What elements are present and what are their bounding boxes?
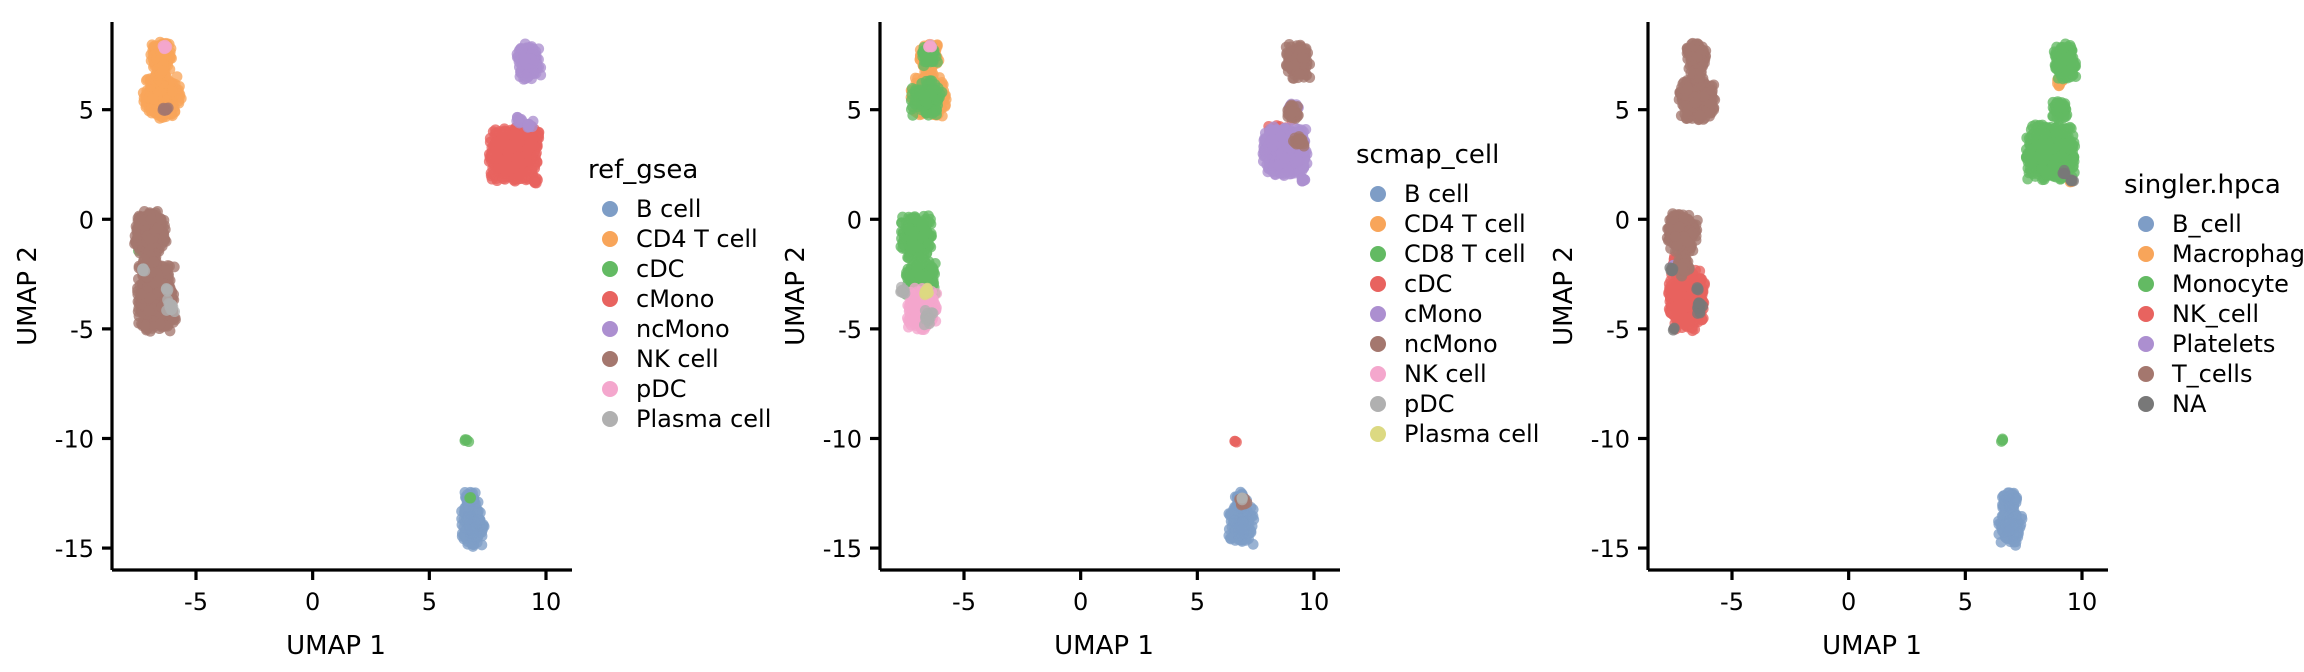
legend-item[interactable]: cDC	[588, 254, 771, 284]
legend-item[interactable]: ncMono	[1356, 329, 1539, 359]
y-tick-label: -15	[55, 535, 94, 563]
legend-item-label: Plasma cell	[636, 405, 771, 433]
legend-swatch-icon	[602, 201, 618, 217]
x-tick-label: 10	[1299, 588, 1330, 616]
legend-item[interactable]: pDC	[1356, 389, 1539, 419]
legend-swatch-icon	[2138, 216, 2154, 232]
legend-swatch-icon	[1370, 426, 1386, 442]
y-tick-label: -5	[838, 316, 862, 344]
legend-swatch-icon	[602, 321, 618, 337]
x-tick-label: 5	[422, 588, 437, 616]
legend-swatch-icon	[602, 381, 618, 397]
y-tick-label: -15	[823, 535, 862, 563]
y-tick-label: 5	[847, 97, 862, 125]
legend-item-label: ncMono	[636, 315, 730, 343]
x-axis-label: UMAP 1	[1822, 631, 1922, 661]
legend-swatch-icon	[2138, 396, 2154, 412]
legend-item-label: NA	[2172, 390, 2206, 418]
y-tick-label: -5	[1606, 316, 1630, 344]
y-axis-label: UMAP 2	[781, 246, 811, 346]
series-na	[1664, 165, 2079, 336]
legend-swatch-icon	[1370, 336, 1386, 352]
data-points	[1662, 38, 2081, 551]
x-tick-label: -5	[1720, 588, 1744, 616]
legend-item-label: B cell	[1404, 180, 1469, 208]
legend-item[interactable]: CD4 T cell	[588, 224, 771, 254]
legend-item[interactable]: Plasma cell	[588, 404, 771, 434]
legend-swatch-icon	[1370, 246, 1386, 262]
x-tick-label: 5	[1958, 588, 1973, 616]
series-cdc	[133, 240, 476, 503]
legend-item-label: ncMono	[1404, 330, 1498, 358]
legend-swatch-icon	[1370, 216, 1386, 232]
data-points	[129, 37, 546, 552]
legend-swatch-icon	[1370, 366, 1386, 382]
legend-title: scmap_cell	[1356, 140, 1539, 170]
y-tick-label: 0	[79, 206, 94, 234]
series-t-cells	[1662, 38, 1720, 282]
legend-item-label: pDC	[636, 375, 686, 403]
legend-title: ref_gsea	[588, 155, 771, 185]
y-tick-label: 5	[1615, 97, 1630, 125]
legend-item-label: Platelets	[2172, 330, 2275, 358]
legend-item-label: T_cells	[2172, 360, 2252, 388]
legend-item[interactable]: ncMono	[588, 314, 771, 344]
legend-item[interactable]: Plasma cell	[1356, 419, 1539, 449]
y-tick-label: -5	[70, 316, 94, 344]
legend-item-label: NK_cell	[2172, 300, 2259, 328]
y-tick-label: -15	[1591, 535, 1630, 563]
legend-item[interactable]: NK cell	[1356, 359, 1539, 389]
legend-item-label: CD4 T cell	[1404, 210, 1526, 238]
legend-swatch-icon	[1370, 276, 1386, 292]
legend-item[interactable]: NK_cell	[2124, 299, 2304, 329]
y-tick-label: -10	[55, 425, 94, 453]
x-tick-label: 10	[531, 588, 562, 616]
legend-swatch-icon	[1370, 186, 1386, 202]
x-axis-label: UMAP 1	[286, 631, 386, 661]
legend-item-label: Macrophage	[2172, 240, 2304, 268]
series-b-cell	[1993, 487, 2027, 550]
legend-item[interactable]: NK cell	[588, 344, 771, 374]
legend-item-label: cDC	[1404, 270, 1452, 298]
series-ncmono	[511, 38, 546, 132]
data-points	[895, 39, 1315, 550]
legend-item[interactable]: B cell	[588, 194, 771, 224]
legend-item-label: NK cell	[1404, 360, 1487, 388]
x-tick-label: 0	[1841, 588, 1856, 616]
legend-swatch-icon	[2138, 366, 2154, 382]
legend-swatch-icon	[2138, 306, 2154, 322]
legend-swatch-icon	[1370, 306, 1386, 322]
legend-item[interactable]: Macrophage	[2124, 239, 2304, 269]
legend-swatch-icon	[2138, 336, 2154, 352]
legend-item[interactable]: NA	[2124, 389, 2304, 419]
legend-item-label: Plasma cell	[1404, 420, 1539, 448]
series-pdc	[895, 282, 1248, 506]
y-tick-label: 0	[847, 206, 862, 234]
legend-item[interactable]: B cell	[1356, 179, 1539, 209]
legend-item-label: B_cell	[2172, 210, 2242, 238]
series-monocyte	[1996, 39, 2081, 447]
legend-title: singler.hpca	[2124, 170, 2304, 200]
legend-item[interactable]: CD4 T cell	[1356, 209, 1539, 239]
legend-item-label: CD8 T cell	[1404, 240, 1526, 268]
legend-item-label: cDC	[636, 255, 684, 283]
y-axis-label: UMAP 2	[13, 246, 43, 346]
legend-item[interactable]: B_cell	[2124, 209, 2304, 239]
legend-item[interactable]: Platelets	[2124, 329, 2304, 359]
x-tick-label: -5	[184, 588, 208, 616]
legend-item[interactable]: cMono	[588, 284, 771, 314]
legend-item-label: cMono	[1404, 300, 1482, 328]
legend-item-label: NK cell	[636, 345, 719, 373]
legend-swatch-icon	[2138, 276, 2154, 292]
x-axis-label: UMAP 1	[1054, 631, 1154, 661]
legend-item[interactable]: pDC	[588, 374, 771, 404]
legend-swatch-icon	[602, 411, 618, 427]
legend-item-label: B cell	[636, 195, 701, 223]
legend-item[interactable]: CD8 T cell	[1356, 239, 1539, 269]
legend-item[interactable]: cMono	[1356, 299, 1539, 329]
legend-item[interactable]: cDC	[1356, 269, 1539, 299]
y-tick-label: 0	[1615, 206, 1630, 234]
legend-item-label: pDC	[1404, 390, 1454, 418]
legend-swatch-icon	[602, 291, 618, 307]
legend-item-label: Monocyte	[2172, 270, 2289, 298]
legend-item-label: CD4 T cell	[636, 225, 758, 253]
x-tick-label: 10	[2067, 588, 2098, 616]
x-tick-label: -5	[952, 588, 976, 616]
legend-singler-hpca: singler.hpcaB_cellMacrophageMonocyteNK_c…	[2124, 170, 2304, 419]
legend-item-label: cMono	[636, 285, 714, 313]
legend-swatch-icon	[1370, 396, 1386, 412]
x-tick-label: 5	[1190, 588, 1205, 616]
y-tick-label: -10	[1591, 425, 1630, 453]
legend-swatch-icon	[602, 261, 618, 277]
y-axis-label: UMAP 2	[1549, 246, 1579, 346]
legend-scmap-cell: scmap_cellB cellCD4 T cellCD8 T cellcDCc…	[1356, 140, 1539, 449]
legend-swatch-icon	[602, 231, 618, 247]
y-tick-label: 5	[79, 97, 94, 125]
legend-item[interactable]: Monocyte	[2124, 269, 2304, 299]
y-tick-label: -10	[823, 425, 862, 453]
legend-swatch-icon	[602, 351, 618, 367]
x-tick-label: 0	[305, 588, 320, 616]
umap-figure: -5051050-5-10-15UMAP 1UMAP 2 ref_gseaB c…	[0, 0, 2304, 672]
x-tick-label: 0	[1073, 588, 1088, 616]
legend-item[interactable]: T_cells	[2124, 359, 2304, 389]
legend-swatch-icon	[2138, 246, 2154, 262]
legend-ref-gsea: ref_gseaB cellCD4 T cellcDCcMononcMonoNK…	[588, 155, 771, 434]
